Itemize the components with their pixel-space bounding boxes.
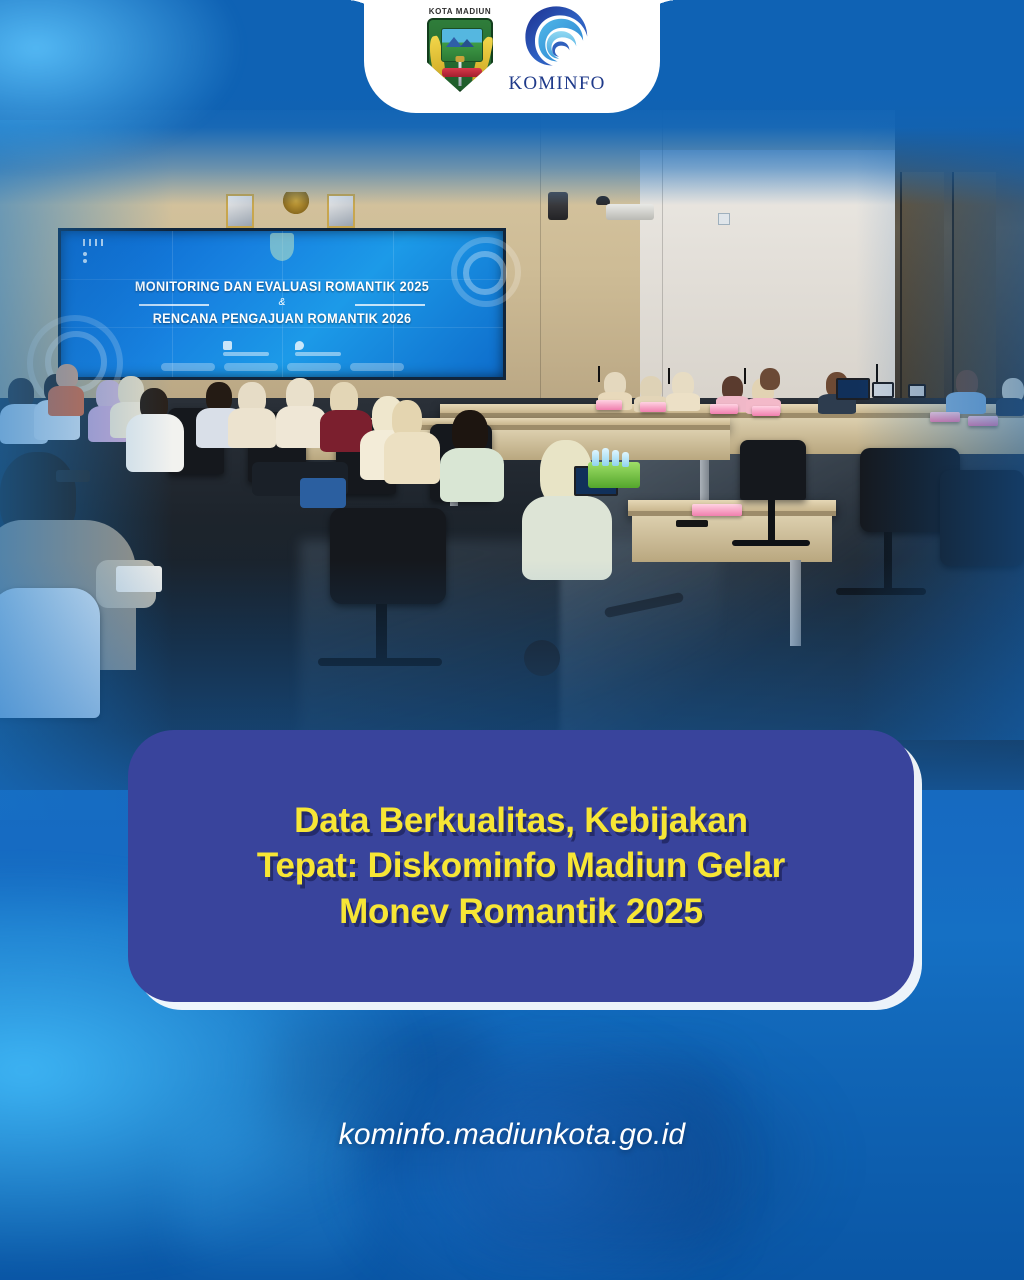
attendee-body (666, 393, 700, 411)
water-bottle (602, 448, 609, 466)
wall-sign (718, 213, 730, 225)
headline-line-1: Data Berkualitas, Kebijakan (176, 798, 866, 844)
kominfo-wordmark: KOMINFO (508, 73, 606, 95)
snack-box (710, 404, 738, 414)
city-emblem-label: KOTA MADIUN (418, 7, 502, 16)
microphone (668, 368, 670, 384)
chair-post (768, 500, 775, 544)
title-card: Data Berkualitas, Kebijakan Tepat: Disko… (128, 730, 914, 1002)
snack-box (640, 402, 666, 412)
attendee-body (440, 448, 504, 502)
kota-madiun-coat-of-arms-icon: KOTA MADIUN (418, 7, 502, 99)
foreground-table-front (632, 516, 832, 562)
screen-city-logo (270, 233, 294, 261)
headline-line-2: Tepat: Diskominfo Madiun Gelar (176, 843, 866, 889)
water-bottle (612, 450, 619, 466)
attendee-body (276, 406, 326, 448)
smartphone (676, 520, 708, 527)
attendee-body (228, 408, 276, 448)
chair-base (732, 540, 810, 546)
equipment-case (300, 478, 346, 508)
microphone (598, 366, 600, 382)
microphone (744, 368, 746, 384)
office-chair (740, 440, 806, 500)
poster-headline: Data Berkualitas, Kebijakan Tepat: Disko… (176, 798, 866, 935)
kominfo-spiral-icon (522, 5, 592, 71)
attendee-head (760, 368, 780, 390)
top-cyan-glow (0, 0, 260, 180)
headline-line-3: Monev Romantik 2025 (176, 889, 866, 935)
kominfo-wave-logo-icon: KOMINFO (508, 3, 606, 99)
snack-box (752, 406, 780, 416)
screen-connector: & (279, 297, 286, 308)
snack-box (692, 504, 742, 516)
attendee-body (384, 432, 440, 484)
water-bottle (592, 450, 599, 466)
social-media-poster: & MONITORING DAN EVALUASI ROMANTIK 2025 … (0, 0, 1024, 1280)
snack-box (596, 400, 622, 410)
air-conditioner (606, 204, 654, 220)
water-bottle (622, 452, 629, 467)
website-url[interactable]: kominfo.madiunkota.go.id (0, 1118, 1024, 1152)
header-logo-badge: KOTA MADIUN (364, 0, 660, 113)
